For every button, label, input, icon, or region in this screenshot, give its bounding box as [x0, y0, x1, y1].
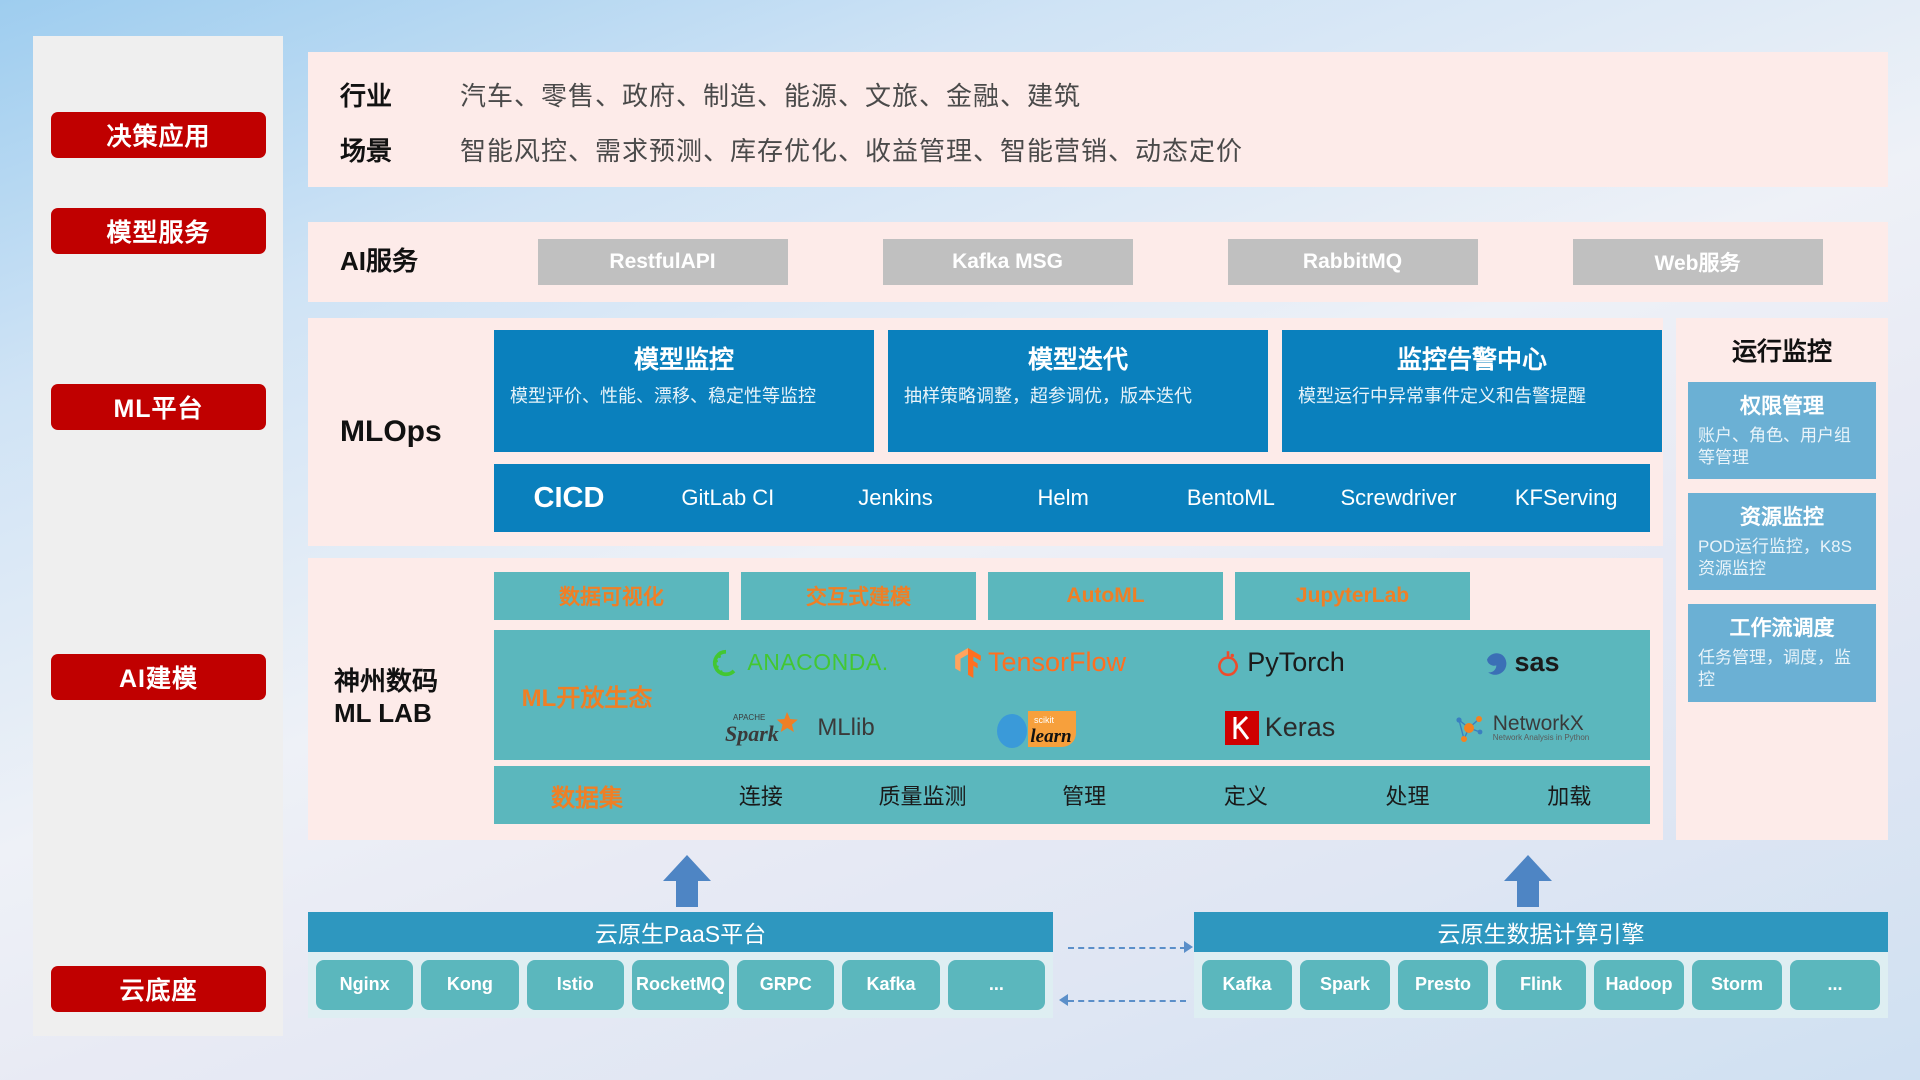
- industry-row: 行业 汽车、零售、政府、制造、能源、文旅、金融、建筑: [308, 76, 1081, 113]
- scenario-label: 场景: [308, 131, 460, 168]
- card-desc: 任务管理，调度，监控: [1698, 647, 1866, 691]
- dataset-item-manage[interactable]: 管理: [1003, 779, 1165, 811]
- monitor-card-permission[interactable]: 权限管理 账户、角色、用户组等管理: [1688, 382, 1876, 479]
- ml-lab-band: 神州数码 ML LAB 数据可视化 交互式建模 AutoML JupyterLa…: [308, 558, 1663, 840]
- cicd-item-screwdriver[interactable]: Screwdriver: [1315, 485, 1483, 510]
- mlops-band: MLOps 模型监控 模型评价、性能、漂移、稳定性等监控 模型迭代 抽样策略调整…: [308, 318, 1663, 546]
- chip-label: RabbitMQ: [1303, 250, 1402, 274]
- rail-item-label: ML平台: [113, 389, 203, 425]
- mlops-card-alert-center[interactable]: 监控告警中心 模型运行中异常事件定义和告警提醒: [1282, 330, 1662, 452]
- paas-chip-kong[interactable]: Kong: [421, 960, 518, 1010]
- pytorch-icon: [1215, 648, 1241, 678]
- paas-chip-kafka[interactable]: Kafka: [842, 960, 939, 1010]
- data-engine-title: 云原生数据计算引擎: [1194, 912, 1888, 952]
- anaconda-logo[interactable]: ANACONDA.: [711, 648, 888, 678]
- keras-wordmark: Keras: [1265, 712, 1336, 743]
- ai-service-chip-web-service[interactable]: Web服务: [1573, 239, 1823, 285]
- tab-label: 交互式建模: [806, 581, 911, 611]
- sas-icon: [1480, 649, 1508, 677]
- paas-title: 云原生PaaS平台: [308, 912, 1053, 952]
- cicd-item-kfserving[interactable]: KFServing: [1482, 485, 1650, 510]
- rail-item-label: AI建模: [119, 659, 198, 695]
- rail-item-cloud-base[interactable]: 云底座: [51, 966, 266, 1012]
- tab-label: JupyterLab: [1296, 584, 1409, 608]
- arrow-up-paas: [663, 855, 711, 907]
- tab-label: AutoML: [1066, 584, 1144, 608]
- paas-chip-more[interactable]: ...: [948, 960, 1045, 1010]
- cicd-item-jenkins[interactable]: Jenkins: [812, 485, 980, 510]
- dataset-bar: 数据集 连接 质量监测 管理 定义 处理 加载: [494, 766, 1650, 824]
- networkx-tagline: Network Analysis in Python: [1493, 734, 1590, 742]
- layer-rail: 决策应用 模型服务 ML平台 AI建模 云底座: [33, 36, 283, 1036]
- monitor-card-workflow[interactable]: 工作流调度 任务管理，调度，监控: [1688, 604, 1876, 701]
- scenario-row: 场景 智能风控、需求预测、库存优化、收益管理、智能营销、动态定价: [308, 131, 1243, 168]
- card-title: 监控告警中心: [1298, 340, 1646, 376]
- eco-logo-grid: ANACONDA. TensorFlow: [680, 630, 1650, 760]
- run-monitor-panel: 运行监控 权限管理 账户、角色、用户组等管理 资源监控 POD运行监控，K8S资…: [1676, 318, 1888, 840]
- dashed-connector-right: [1068, 947, 1186, 949]
- monitor-card-resource[interactable]: 资源监控 POD运行监控，K8S资源监控: [1688, 493, 1876, 590]
- mlops-card-model-monitor[interactable]: 模型监控 模型评价、性能、漂移、稳定性等监控: [494, 330, 874, 452]
- engine-chip-kafka[interactable]: Kafka: [1202, 960, 1292, 1010]
- ai-service-band: AI服务 RestfulAPI Kafka MSG RabbitMQ Web服务: [308, 222, 1888, 302]
- engine-chip-storm[interactable]: Storm: [1692, 960, 1782, 1010]
- tensorflow-wordmark: TensorFlow: [988, 647, 1126, 678]
- anaconda-wordmark: ANACONDA.: [747, 649, 888, 676]
- dataset-title: 数据集: [494, 778, 680, 813]
- card-desc: 模型评价、性能、漂移、稳定性等监控: [510, 384, 858, 408]
- scikit-learn-logo[interactable]: scikit learn: [994, 705, 1086, 751]
- svg-text:Spark: Spark: [725, 721, 779, 746]
- dashed-connector-left: [1068, 1000, 1186, 1002]
- arrow-up-data-engine: [1504, 855, 1552, 907]
- svg-text:learn: learn: [1030, 726, 1071, 747]
- tab-data-visualization[interactable]: 数据可视化: [494, 572, 729, 620]
- mlops-card-model-iteration[interactable]: 模型迭代 抽样策略调整，超参调优，版本迭代: [888, 330, 1268, 452]
- tab-automl[interactable]: AutoML: [988, 572, 1223, 620]
- sas-wordmark: sas: [1514, 647, 1559, 678]
- dataset-item-quality-monitor[interactable]: 质量监测: [842, 779, 1004, 811]
- pytorch-wordmark: PyTorch: [1247, 647, 1345, 678]
- ai-service-chip-kafka-msg[interactable]: Kafka MSG: [883, 239, 1133, 285]
- card-desc: 模型运行中异常事件定义和告警提醒: [1298, 384, 1646, 408]
- mllib-wordmark: MLlib: [817, 714, 874, 742]
- ai-service-chip-restfulapi[interactable]: RestfulAPI: [538, 239, 788, 285]
- architecture-diagram: 决策应用 模型服务 ML平台 AI建模 云底座 行业 汽车、零售、政府、制造、能…: [0, 0, 1920, 1080]
- networkx-icon: [1451, 710, 1487, 746]
- card-title: 权限管理: [1698, 390, 1866, 420]
- engine-chip-more[interactable]: ...: [1790, 960, 1880, 1010]
- dataset-item-process[interactable]: 处理: [1327, 779, 1489, 811]
- paas-chip-nginx[interactable]: Nginx: [316, 960, 413, 1010]
- mlops-label: MLOps: [340, 414, 490, 451]
- scenario-values: 智能风控、需求预测、库存优化、收益管理、智能营销、动态定价: [460, 131, 1243, 168]
- main-column: 行业 汽车、零售、政府、制造、能源、文旅、金融、建筑 场景 智能风控、需求预测、…: [308, 0, 1888, 1080]
- data-engine-chip-list: Kafka Spark Presto Flink Hadoop Storm ..…: [1194, 952, 1888, 1018]
- rail-item-ml-platform[interactable]: ML平台: [51, 384, 266, 430]
- rail-item-decision-app[interactable]: 决策应用: [51, 112, 266, 158]
- cicd-item-bentoml[interactable]: BentoML: [1147, 485, 1315, 510]
- ml-lab-label: 神州数码 ML LAB: [334, 666, 494, 729]
- rail-item-label: 决策应用: [106, 117, 210, 153]
- dataset-item-connect[interactable]: 连接: [680, 779, 842, 811]
- run-monitor-title: 运行监控: [1676, 318, 1888, 368]
- card-desc: 抽样策略调整，超参调优，版本迭代: [904, 384, 1252, 408]
- keras-icon: [1225, 711, 1259, 745]
- chip-label: Kafka MSG: [952, 250, 1063, 274]
- dataset-item-define[interactable]: 定义: [1165, 779, 1327, 811]
- mlops-card-list: 模型监控 模型评价、性能、漂移、稳定性等监控 模型迭代 抽样策略调整，超参调优，…: [494, 330, 1662, 452]
- svg-text:scikit: scikit: [1034, 715, 1054, 725]
- pytorch-logo[interactable]: PyTorch: [1215, 647, 1345, 678]
- decision-app-band: 行业 汽车、零售、政府、制造、能源、文旅、金融、建筑 场景 智能风控、需求预测、…: [308, 52, 1888, 187]
- chip-label: Web服务: [1655, 247, 1741, 277]
- cloud-native-paas-group: 云原生PaaS平台 Nginx Kong Istio RocketMQ GRPC…: [308, 912, 1053, 1018]
- networkx-logo[interactable]: NetworkX Network Analysis in Python: [1451, 710, 1590, 746]
- paas-chip-list: Nginx Kong Istio RocketMQ GRPC Kafka ...: [308, 952, 1053, 1018]
- cicd-item-helm[interactable]: Helm: [979, 485, 1147, 510]
- rail-item-label: 云底座: [119, 971, 197, 1007]
- paas-chip-rocketmq[interactable]: RocketMQ: [632, 960, 729, 1010]
- industry-label: 行业: [308, 76, 460, 113]
- card-title: 资源监控: [1698, 501, 1866, 531]
- eco-label: ML开放生态: [494, 678, 680, 713]
- networkx-wordmark: NetworkX: [1493, 713, 1590, 734]
- dataset-item-load[interactable]: 加载: [1488, 779, 1650, 811]
- dashed-arrow-head-left: [1059, 994, 1068, 1006]
- cloud-native-data-engine-group: 云原生数据计算引擎 Kafka Spark Presto Flink Hadoo…: [1194, 912, 1888, 1018]
- cicd-bar: CICD GitLab CI Jenkins Helm BentoML Scre…: [494, 464, 1650, 532]
- sas-logo[interactable]: sas: [1480, 647, 1559, 678]
- anaconda-icon: [711, 648, 741, 678]
- keras-logo[interactable]: Keras: [1225, 711, 1336, 745]
- card-title: 模型迭代: [904, 340, 1252, 376]
- cicd-title: CICD: [494, 482, 644, 515]
- engine-chip-flink[interactable]: Flink: [1496, 960, 1586, 1010]
- rail-item-ai-modeling[interactable]: AI建模: [51, 654, 266, 700]
- engine-chip-spark[interactable]: Spark: [1300, 960, 1390, 1010]
- card-desc: POD运行监控，K8S资源监控: [1698, 536, 1866, 580]
- spark-mllib-logo[interactable]: APACHE Spark MLlib: [725, 708, 874, 748]
- engine-chip-hadoop[interactable]: Hadoop: [1594, 960, 1684, 1010]
- ai-service-label: AI服务: [340, 246, 490, 278]
- tensorflow-logo[interactable]: TensorFlow: [954, 647, 1126, 678]
- ml-open-ecosystem: ML开放生态 ANACONDA.: [494, 630, 1650, 760]
- ai-service-chip-list: RestfulAPI Kafka MSG RabbitMQ Web服务: [490, 239, 1888, 285]
- paas-chip-grpc[interactable]: GRPC: [737, 960, 834, 1010]
- tab-label: 数据可视化: [559, 581, 664, 611]
- chip-label: RestfulAPI: [609, 250, 715, 274]
- dashed-arrow-head-right: [1184, 941, 1193, 953]
- tab-interactive-modeling[interactable]: 交互式建模: [741, 572, 976, 620]
- engine-chip-presto[interactable]: Presto: [1398, 960, 1488, 1010]
- ai-service-chip-rabbitmq[interactable]: RabbitMQ: [1228, 239, 1478, 285]
- card-title: 模型监控: [510, 340, 858, 376]
- ml-lab-tab-list: 数据可视化 交互式建模 AutoML JupyterLab: [494, 572, 1470, 620]
- rail-item-label: 模型服务: [106, 213, 210, 249]
- industry-values: 汽车、零售、政府、制造、能源、文旅、金融、建筑: [460, 76, 1081, 113]
- card-title: 工作流调度: [1698, 612, 1866, 642]
- spark-icon: APACHE Spark: [725, 708, 811, 748]
- rail-item-model-service[interactable]: 模型服务: [51, 208, 266, 254]
- tensorflow-icon: [954, 648, 982, 678]
- tab-jupyterlab[interactable]: JupyterLab: [1235, 572, 1470, 620]
- card-desc: 账户、角色、用户组等管理: [1698, 425, 1866, 469]
- scikit-learn-icon: scikit learn: [994, 705, 1086, 751]
- paas-chip-istio[interactable]: Istio: [527, 960, 624, 1010]
- cicd-item-gitlab-ci[interactable]: GitLab CI: [644, 485, 812, 510]
